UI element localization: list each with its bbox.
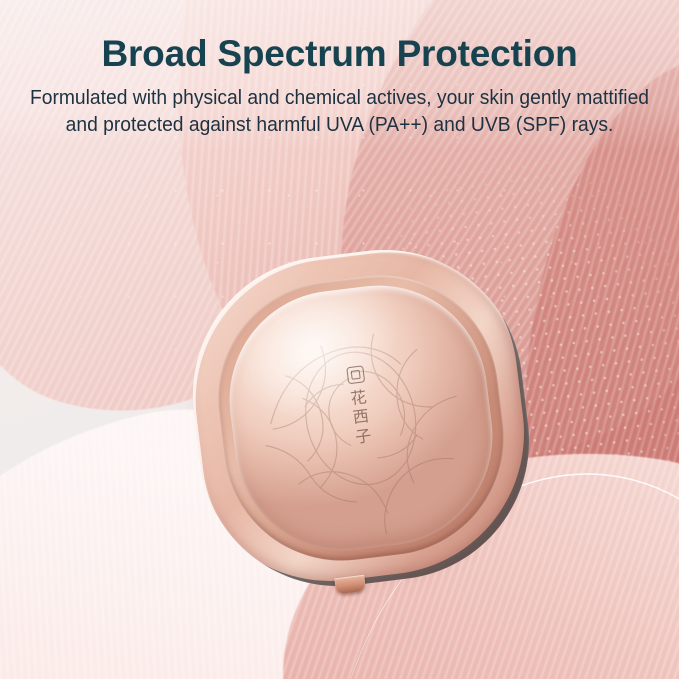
page-title: Broad Spectrum Protection [0, 0, 679, 73]
description-line-2: and protected against harmful UVA (PA++)… [20, 111, 658, 138]
product-marketing-banner: 花 西 子 Broad Spectrum Protection Formulat… [0, 0, 679, 679]
banner-description: Formulated with physical and chemical ac… [20, 73, 658, 138]
compact-lid: 花 西 子 [217, 273, 504, 563]
product-compact: 花 西 子 [177, 234, 545, 602]
banner-copy: Broad Spectrum Protection Formulated wit… [0, 0, 679, 138]
description-line-1: Formulated with physical and chemical ac… [20, 84, 658, 111]
